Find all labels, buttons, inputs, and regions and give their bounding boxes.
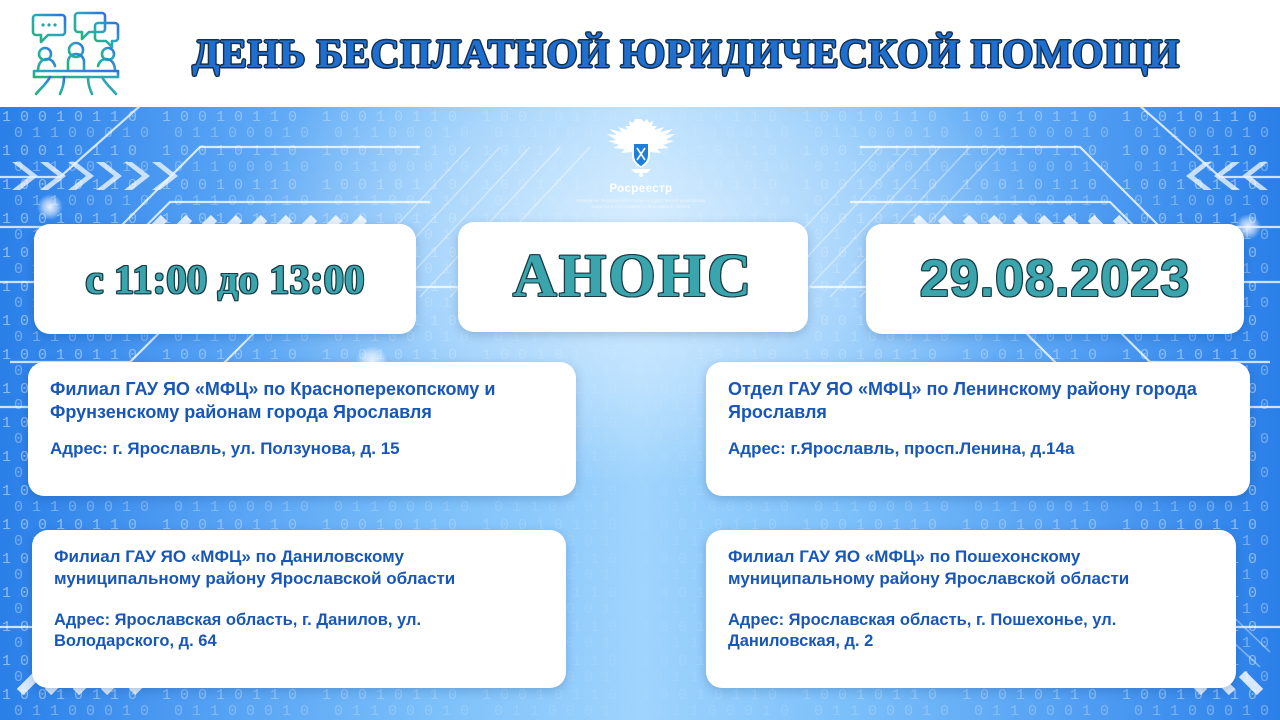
event-date: 29.08.2023 [920, 249, 1190, 309]
poster-header: ДЕНЬ БЕСПЛАТНОЙ ЮРИДИЧЕСКОЙ ПОМОЩИ [0, 0, 1280, 107]
rosreestr-subtitle: Управление Федеральной службы государств… [561, 198, 721, 210]
rosreestr-name: Росреестр [561, 183, 721, 195]
time-card: с 11:00 до 13:00 [34, 224, 416, 334]
location-title: Филиал ГАУ ЯО «МФЦ» по Красноперекопском… [50, 378, 554, 424]
location-address: Адрес: Ярославская область, г. Данилов, … [54, 610, 544, 653]
date-card: 29.08.2023 [866, 224, 1244, 334]
location-title: Филиал ГАУ ЯО «МФЦ» по Пошехонскому муни… [728, 546, 1214, 590]
location-card: Филиал ГАУ ЯО «МФЦ» по Даниловскому муни… [32, 530, 566, 688]
double-headed-eagle-emblem [602, 115, 680, 177]
announcement-card: АНОНС [458, 222, 808, 332]
meeting-discussion-icon [20, 8, 132, 100]
rosreestr-branding: Росреестр Управление Федеральной службы … [561, 115, 721, 211]
event-time: с 11:00 до 13:00 [85, 255, 364, 303]
page-title: ДЕНЬ БЕСПЛАТНОЙ ЮРИДИЧЕСКОЙ ПОМОЩИ [132, 30, 1280, 77]
location-title: Отдел ГАУ ЯО «МФЦ» по Ленинскому району … [728, 378, 1228, 424]
location-card: Филиал ГАУ ЯО «МФЦ» по Пошехонскому муни… [706, 530, 1236, 688]
announcement-label: АНОНС [513, 242, 753, 312]
location-address: Адрес: г.Ярославль, просп.Ленина, д.14а [728, 438, 1228, 460]
location-address: Адрес: г. Ярославль, ул. Ползунова, д. 1… [50, 438, 554, 460]
location-address: Адрес: Ярославская область, г. Пошехонье… [728, 610, 1214, 653]
location-card: Филиал ГАУ ЯО «МФЦ» по Красноперекопском… [28, 362, 576, 496]
location-card: Отдел ГАУ ЯО «МФЦ» по Ленинскому району … [706, 362, 1250, 496]
location-title: Филиал ГАУ ЯО «МФЦ» по Даниловскому муни… [54, 546, 544, 590]
announcement-poster: ДЕНЬ БЕСПЛАТНОЙ ЮРИДИЧЕСКОЙ ПОМОЩИ 1 0 0… [0, 0, 1280, 720]
